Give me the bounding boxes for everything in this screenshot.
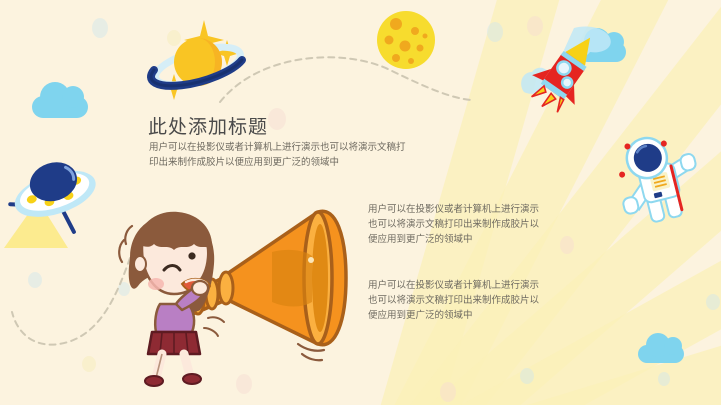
decor-dot [268, 108, 286, 130]
decor-dot [560, 236, 574, 254]
cloud-icon [32, 96, 88, 118]
girl-with-megaphone-icon [112, 192, 362, 388]
body-paragraph-1: 用户可以在投影仪或者计算机上进行演示也可以将演示文稿打印出来制作成胶片以便应用到… [149, 140, 409, 170]
ufo-icon [2, 138, 112, 248]
decor-dot [440, 382, 456, 402]
moon-icon [374, 8, 438, 72]
rocket-icon [516, 22, 616, 114]
decor-dot [520, 368, 534, 384]
cloud-icon [638, 345, 684, 363]
body-paragraph-3: 用户可以在投影仪或者计算机上进行演示也可以将演示文稿打印出来制作成胶片以便应用到… [368, 278, 548, 323]
decor-dot [92, 18, 108, 38]
slide-canvas: 此处添加标题 用户可以在投影仪或者计算机上进行演示也可以将演示文稿打印出来制作成… [0, 0, 721, 405]
astronaut-icon [612, 132, 704, 224]
decor-dot [658, 372, 670, 386]
saturn-planet-icon [142, 18, 252, 100]
decor-dot [487, 22, 503, 42]
body-paragraph-2: 用户可以在投影仪或者计算机上进行演示也可以将演示文稿打印出来制作成胶片以便应用到… [368, 202, 548, 247]
page-title: 此处添加标题 [148, 112, 268, 139]
decor-dot [706, 294, 720, 310]
